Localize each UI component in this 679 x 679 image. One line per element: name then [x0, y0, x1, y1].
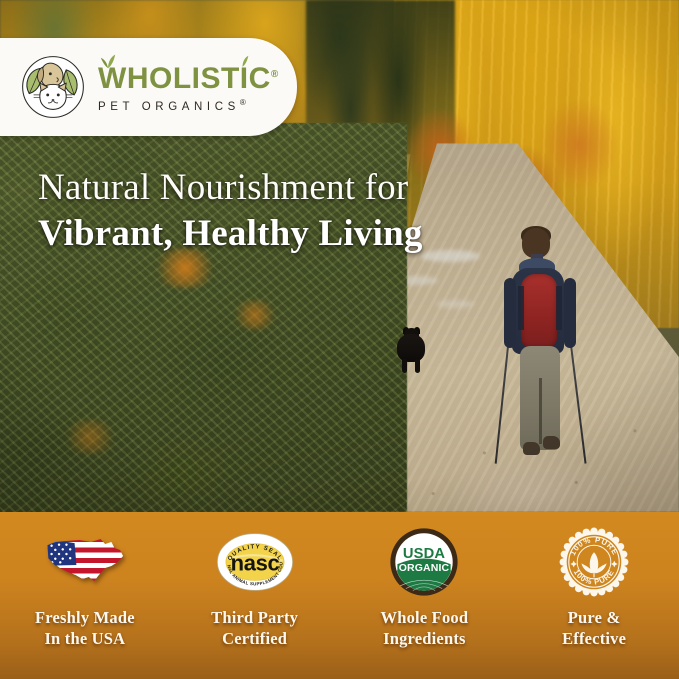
autumn-leaf-accent [60, 420, 120, 454]
badge-label-line1: Freshly Made [35, 608, 135, 627]
badge-label-line2: Effective [562, 629, 626, 648]
hiker-figure [494, 228, 586, 478]
badge-label-line2: In the USA [44, 629, 125, 648]
hiker-arm-right [564, 278, 576, 348]
hiker-boot-left [523, 442, 540, 455]
leaf-sprout-icon [236, 54, 249, 68]
dog-leg-left [402, 359, 407, 373]
dog-figure [395, 328, 427, 374]
brand-sub-registered-mark: ® [240, 98, 246, 107]
badge-label-pure: Pure & Effective [562, 607, 626, 649]
brand-registered-mark: ® [271, 69, 279, 80]
badge-third-party-certified: QUALITY SEAL nasc NATIONAL ANIMAL SUPPLE… [170, 526, 340, 649]
badge-label-line1: Third Party [211, 608, 298, 627]
usda-organic-seal-icon: USDA ORGANIC [385, 526, 463, 598]
badge-label-line2: Ingredients [383, 629, 466, 648]
dog-leg-right [415, 359, 420, 373]
trust-badge-bar: Freshly Made In the USA QUALITY SEAL [0, 512, 679, 679]
brand-logo-plate[interactable]: WHOLISTIC® PET ORGANICS® [0, 38, 297, 136]
hundred-percent-pure-leaf-seal-icon: 100% PURE 100% PURE [555, 526, 633, 598]
badge-label-usa: Freshly Made In the USA [35, 607, 135, 649]
svg-text:ORGANIC: ORGANIC [399, 562, 450, 574]
brand-name-sub-text: PET ORGANICS [98, 100, 240, 112]
hiker-leg-separation [539, 378, 542, 444]
nasc-quality-seal-icon: QUALITY SEAL nasc NATIONAL ANIMAL SUPPLE… [216, 526, 294, 598]
hiker-boot-right [543, 436, 560, 449]
brand-wordmark: WHOLISTIC® PET ORGANICS® [98, 62, 279, 113]
leaf-sprout-icon [100, 53, 116, 69]
headline-line-1: Natural Nourishment for [38, 166, 598, 210]
backpack-strap [556, 286, 562, 330]
svg-text:USDA: USDA [403, 546, 445, 562]
badge-whole-food-ingredients: USDA ORGANIC Whole Food Ingredients [340, 526, 510, 649]
brand-name-sub: PET ORGANICS® [98, 98, 279, 113]
badge-label-line1: Pure & [568, 608, 621, 627]
brand-banner: WHOLISTIC® PET ORGANICS® Natural Nourish… [0, 0, 679, 679]
badge-pure-effective: 100% PURE 100% PURE Pure [509, 526, 679, 649]
autumn-leaf-accent [230, 300, 280, 330]
svg-text:nasc: nasc [230, 551, 279, 576]
usa-map-stars [46, 540, 77, 566]
hero-headline: Natural Nourishment for Vibrant, Healthy… [38, 166, 598, 255]
brand-name-main: WHOLISTIC® [98, 64, 279, 94]
badge-freshly-made-usa: Freshly Made In the USA [0, 526, 170, 649]
dog-body [397, 334, 425, 362]
trail-puddle [436, 300, 474, 308]
dog-cat-leaf-circle-logo-icon [20, 54, 86, 120]
badge-label-nasc: Third Party Certified [211, 607, 298, 649]
badge-label-line2: Certified [222, 629, 287, 648]
badge-label-usda: Whole Food Ingredients [381, 607, 469, 649]
hiker-backpack [521, 274, 557, 348]
headline-line-2: Vibrant, Healthy Living [38, 212, 598, 256]
hiker-arm-left [504, 278, 516, 348]
backpack-strap [518, 286, 524, 330]
usa-flag-map-icon [46, 526, 124, 598]
badge-label-line1: Whole Food [381, 608, 469, 627]
